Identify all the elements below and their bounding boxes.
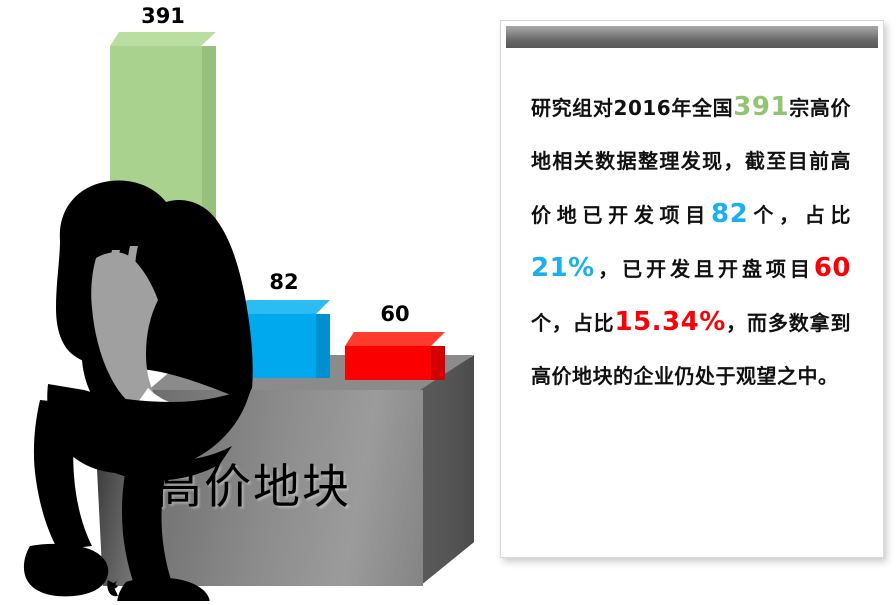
bar-chart-area: 高价地块 391 82 60 bbox=[0, 0, 500, 601]
panel-paragraph: 研究组对2016年全国391宗高价地相关数据整理发现，截至目前高价地已开发项目8… bbox=[531, 81, 851, 403]
highlight-number-5: 21% bbox=[531, 253, 595, 283]
infographic-canvas: 高价地块 391 82 60 bbox=[0, 0, 896, 601]
bar-red-front-face bbox=[345, 346, 431, 380]
platform-right-face bbox=[420, 355, 474, 586]
highlight-number-9: 15.34% bbox=[614, 307, 725, 337]
panel-header-bar bbox=[506, 26, 878, 48]
highlight-number-1: 391 bbox=[733, 92, 789, 122]
seated-man-silhouette-icon bbox=[0, 150, 260, 601]
highlight-number-7: 60 bbox=[814, 253, 851, 283]
paragraph-text-6: ，已开发且开盘项目 bbox=[595, 257, 814, 281]
paragraph-text-0: 研究组对2016年全国 bbox=[531, 96, 733, 120]
paragraph-text-8: 个，占比 bbox=[531, 311, 614, 335]
bar-green-top-face bbox=[110, 32, 216, 46]
highlight-number-3: 82 bbox=[711, 199, 748, 229]
bar-red bbox=[345, 332, 431, 380]
bar-red-top-face bbox=[345, 332, 445, 346]
bar-red-side-face bbox=[431, 346, 445, 380]
bar-red-value-label: 60 bbox=[345, 302, 445, 326]
paragraph-text-4: 个，占比 bbox=[748, 203, 851, 227]
bar-green-value-label: 391 bbox=[110, 4, 216, 28]
bar-blue-side-face bbox=[316, 314, 330, 378]
text-callout-panel: 研究组对2016年全国391宗高价地相关数据整理发现，截至目前高价地已开发项目8… bbox=[500, 20, 884, 558]
